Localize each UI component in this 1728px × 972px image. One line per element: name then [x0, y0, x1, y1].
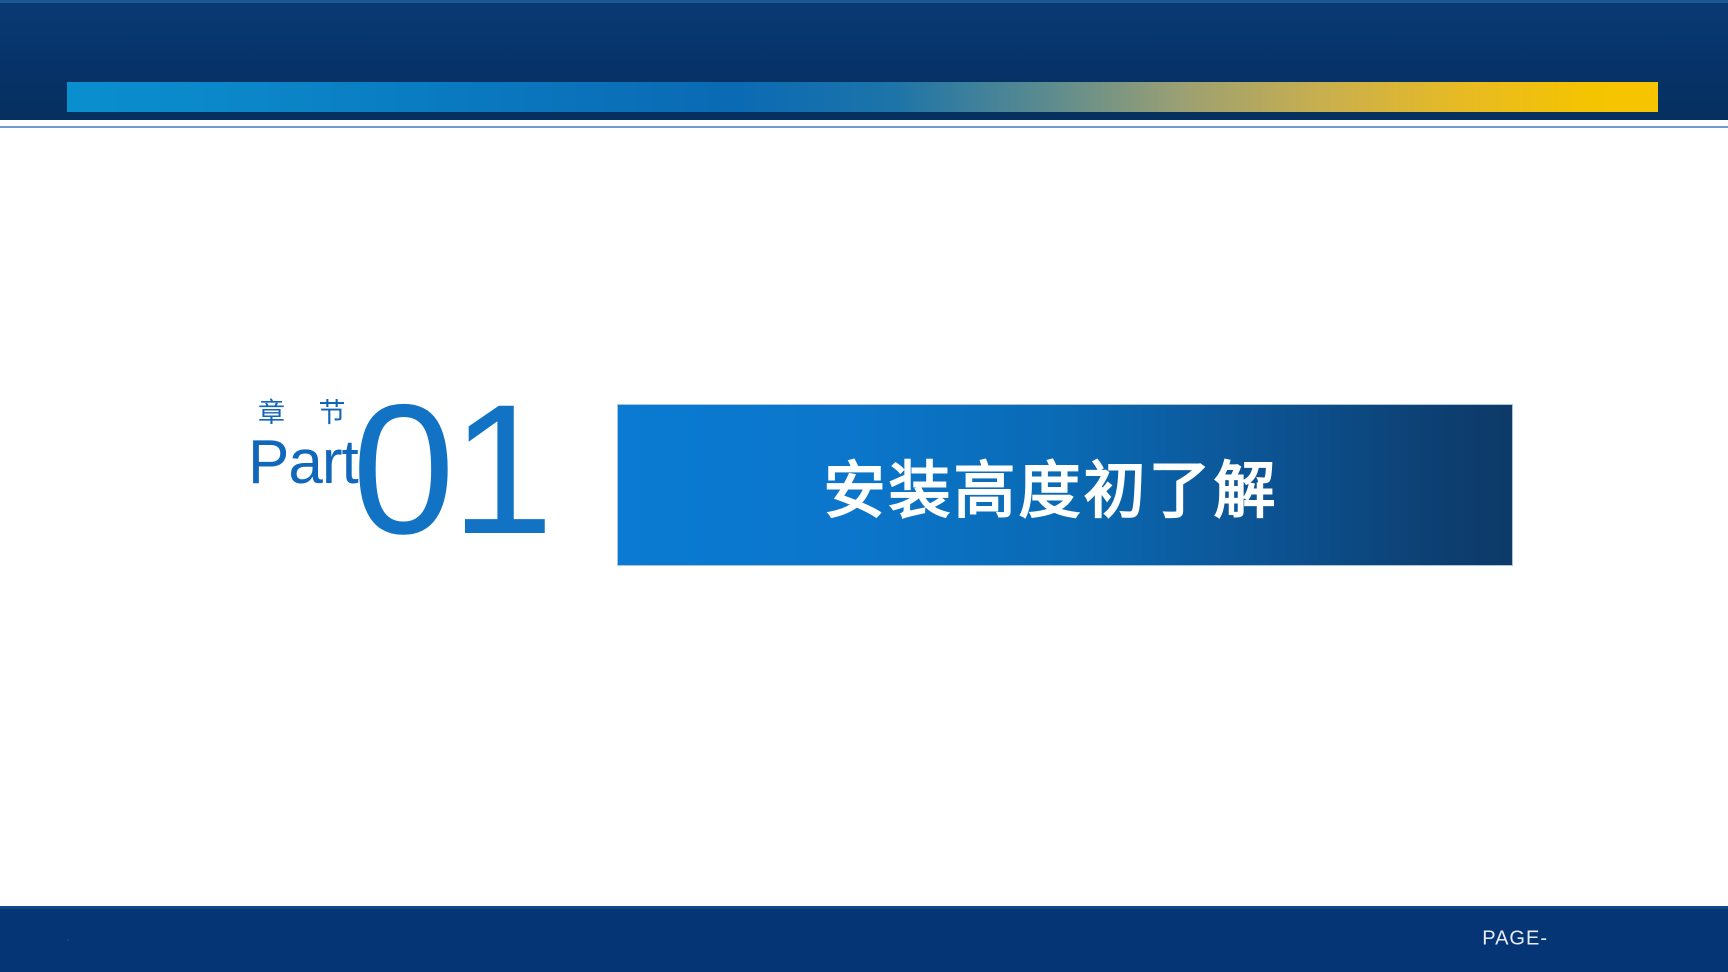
section-title-text: 安装高度初了解 — [618, 440, 1512, 530]
slide-footer-band: · PAGE- — [0, 906, 1728, 972]
footer-left-mark: · — [66, 932, 70, 947]
presentation-slide: 章 节 Part 01 安装高度初了解 · PAGE- — [0, 0, 1728, 972]
section-number: 01 — [352, 378, 550, 563]
section-label-english: Part — [248, 432, 358, 494]
section-label-chinese: 章 节 — [258, 400, 359, 427]
header-top-rule — [0, 0, 1728, 3]
footer-page-number: PAGE- — [1482, 928, 1548, 951]
slide-content-area: 章 节 Part 01 安装高度初了解 — [0, 128, 1728, 906]
footer-top-rule — [0, 906, 1728, 909]
section-part-block: 章 节 Part 01 — [248, 400, 568, 560]
header-gradient-accent-bar — [67, 82, 1658, 112]
section-title-banner: 安装高度初了解 — [618, 405, 1512, 565]
slide-header-band — [0, 0, 1728, 120]
